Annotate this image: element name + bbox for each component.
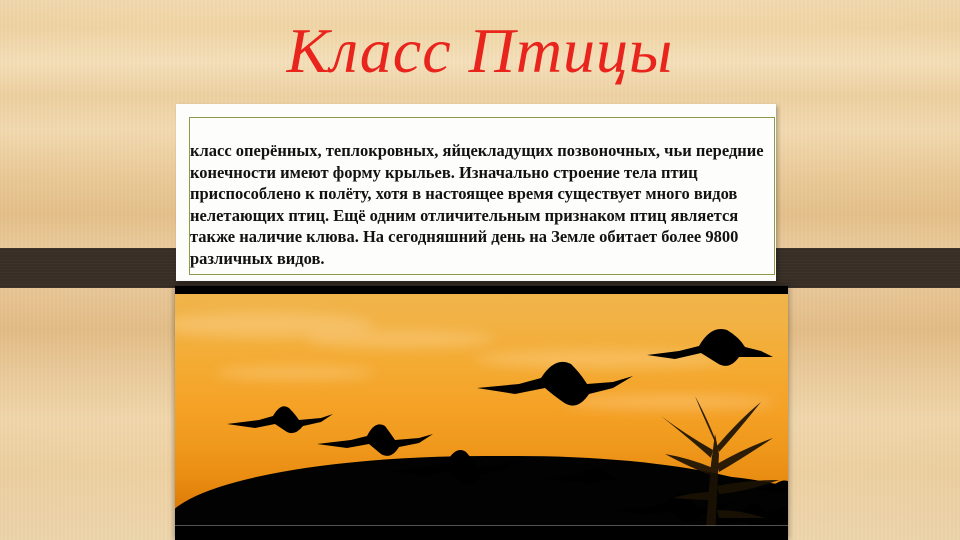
cloud-wisp [215, 366, 375, 380]
body-paragraph: класс оперённых, теплокровных, яйцекладу… [190, 140, 768, 269]
crane-silhouette [543, 464, 623, 490]
cloud-wisp [305, 330, 495, 348]
crane-silhouette [390, 441, 520, 495]
photo-letterbox-bottom [175, 526, 788, 540]
presentation-slide: Класс Птицы класс оперённых, теплокровны… [0, 0, 960, 540]
crane-silhouette [645, 321, 775, 375]
reed-plant-silhouette [645, 394, 788, 540]
crane-silhouette [475, 354, 635, 420]
photo-letterbox-top [175, 286, 788, 294]
sunset-birds-photo [175, 286, 788, 540]
page-title: Класс Птицы [0, 14, 960, 88]
